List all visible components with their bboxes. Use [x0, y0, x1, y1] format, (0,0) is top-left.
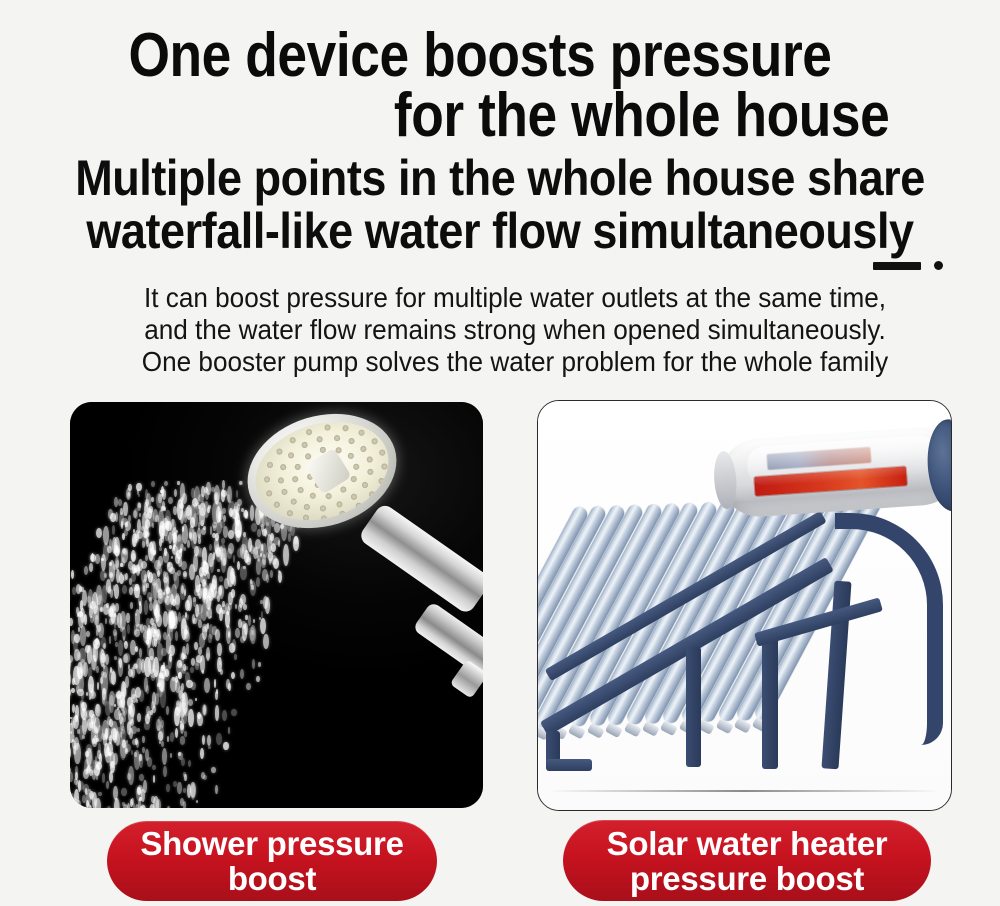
promo-page: One device boosts pressure for the whole…: [0, 0, 1000, 906]
evacuated-tube-cap: [623, 722, 641, 738]
card-solar-heater-image: [537, 400, 952, 811]
body-line-2: and the water flow remains strong when o…: [83, 314, 948, 346]
page-subheading: Multiple points in the whole house share…: [50, 152, 950, 258]
caption-solar-line-2: pressure boost: [607, 861, 888, 896]
headline-line-1: One device boosts pressure: [67, 26, 893, 86]
body-paragraph: It can boost pressure for multiple water…: [83, 282, 948, 378]
frame-base-left: [546, 759, 592, 771]
card-shower-image: [70, 402, 483, 808]
subheading-line-2: waterfall-like water flow simultaneously: [50, 205, 950, 258]
body-line-1: It can boost pressure for multiple water…: [83, 282, 948, 314]
evacuated-tube-cap: [715, 718, 733, 734]
solar-heater-photo: [538, 401, 951, 810]
body-line-3: One booster pump solves the water proble…: [83, 346, 948, 378]
caption-solar-line-1: Solar water heater: [607, 826, 888, 861]
headline-line-2: for the whole house: [67, 86, 893, 146]
caption-shower-line-2: boost: [140, 861, 403, 896]
frame-leg-mid: [762, 637, 778, 769]
frame-arc-support: [835, 513, 943, 745]
evacuated-tube-cap: [642, 721, 660, 737]
water-storage-tank: [718, 425, 952, 520]
evacuated-tube-cap: [605, 722, 623, 738]
subheading-dash-mark: [873, 262, 921, 270]
frame-leg-center: [686, 647, 701, 767]
caption-shower-line-1: Shower pressure: [140, 826, 403, 861]
caption-pill-solar-heater[interactable]: Solar water heater pressure boost: [563, 820, 931, 901]
page-headline: One device boosts pressure for the whole…: [67, 26, 893, 146]
evacuated-tube-cap: [568, 724, 586, 740]
subheading-line-1: Multiple points in the whole house share: [50, 152, 950, 205]
shower-photo: [70, 402, 483, 808]
evacuated-tube-cap: [660, 720, 678, 736]
evacuated-tube-cap: [587, 723, 605, 739]
ground-shadow: [548, 790, 941, 792]
subheading-dot-mark: [934, 261, 943, 270]
evacuated-tube-cap: [734, 718, 752, 734]
caption-pill-shower[interactable]: Shower pressure boost: [107, 821, 437, 901]
